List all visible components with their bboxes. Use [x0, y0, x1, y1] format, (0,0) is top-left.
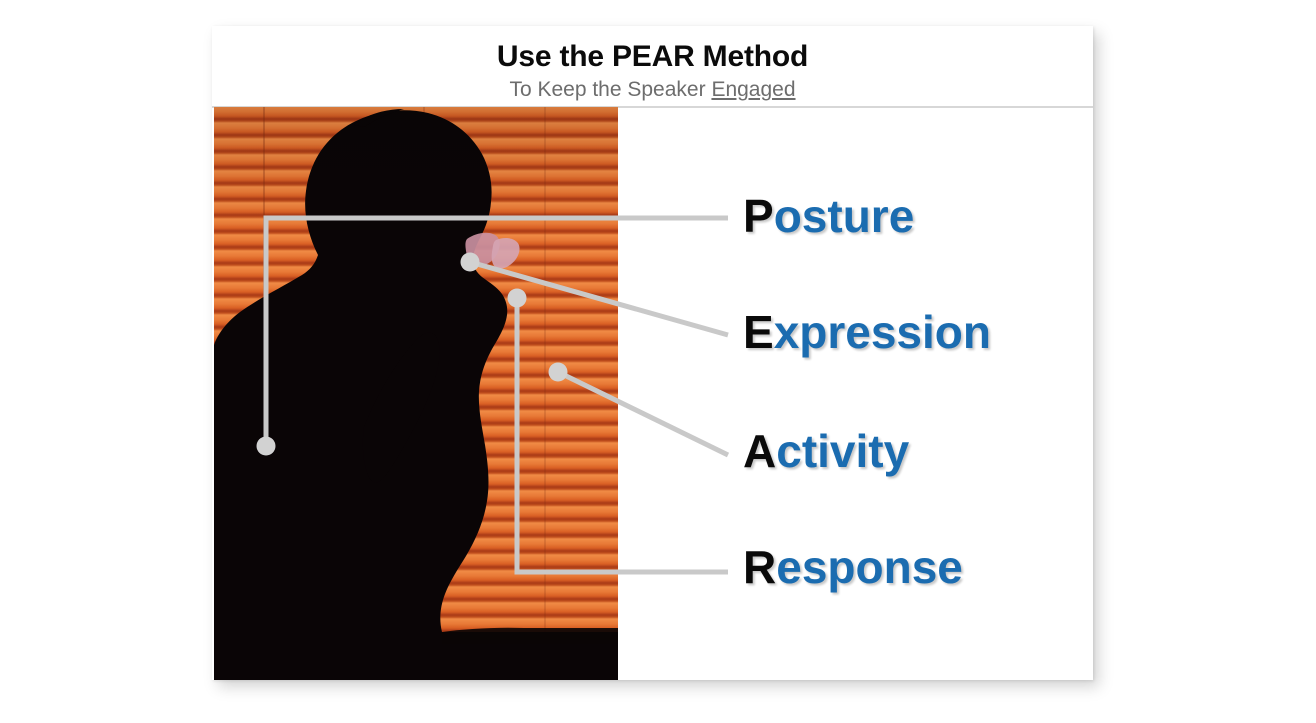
pear-initial-p: P — [743, 190, 774, 242]
pear-initial-r: R — [743, 541, 776, 593]
pear-rest-posture: osture — [774, 190, 915, 242]
pear-initial-a: A — [743, 425, 776, 477]
pear-label-response: Response — [743, 544, 963, 590]
page-title: Use the PEAR Method — [212, 26, 1093, 74]
pear-initial-e: E — [743, 306, 774, 358]
slide-subtitle-prefix: To Keep the Speaker — [509, 78, 711, 101]
pear-rest-expression: xpression — [774, 306, 991, 358]
slide-subtitle-emphasis: Engaged — [711, 78, 795, 101]
slide-header: Use the PEAR Method To Keep the Speaker … — [212, 26, 1093, 106]
pear-label-activity: Activity — [743, 428, 909, 474]
pear-label-expression: Expression — [743, 309, 991, 355]
photo-panel — [214, 107, 618, 680]
pear-rest-activity: ctivity — [776, 425, 909, 477]
person-silhouette — [214, 107, 618, 680]
pear-label-posture: Posture — [743, 193, 914, 239]
slide-card: Use the PEAR Method To Keep the Speaker … — [212, 26, 1093, 680]
pear-rest-response: esponse — [776, 541, 963, 593]
slide-subtitle: To Keep the Speaker Engaged — [212, 74, 1093, 102]
